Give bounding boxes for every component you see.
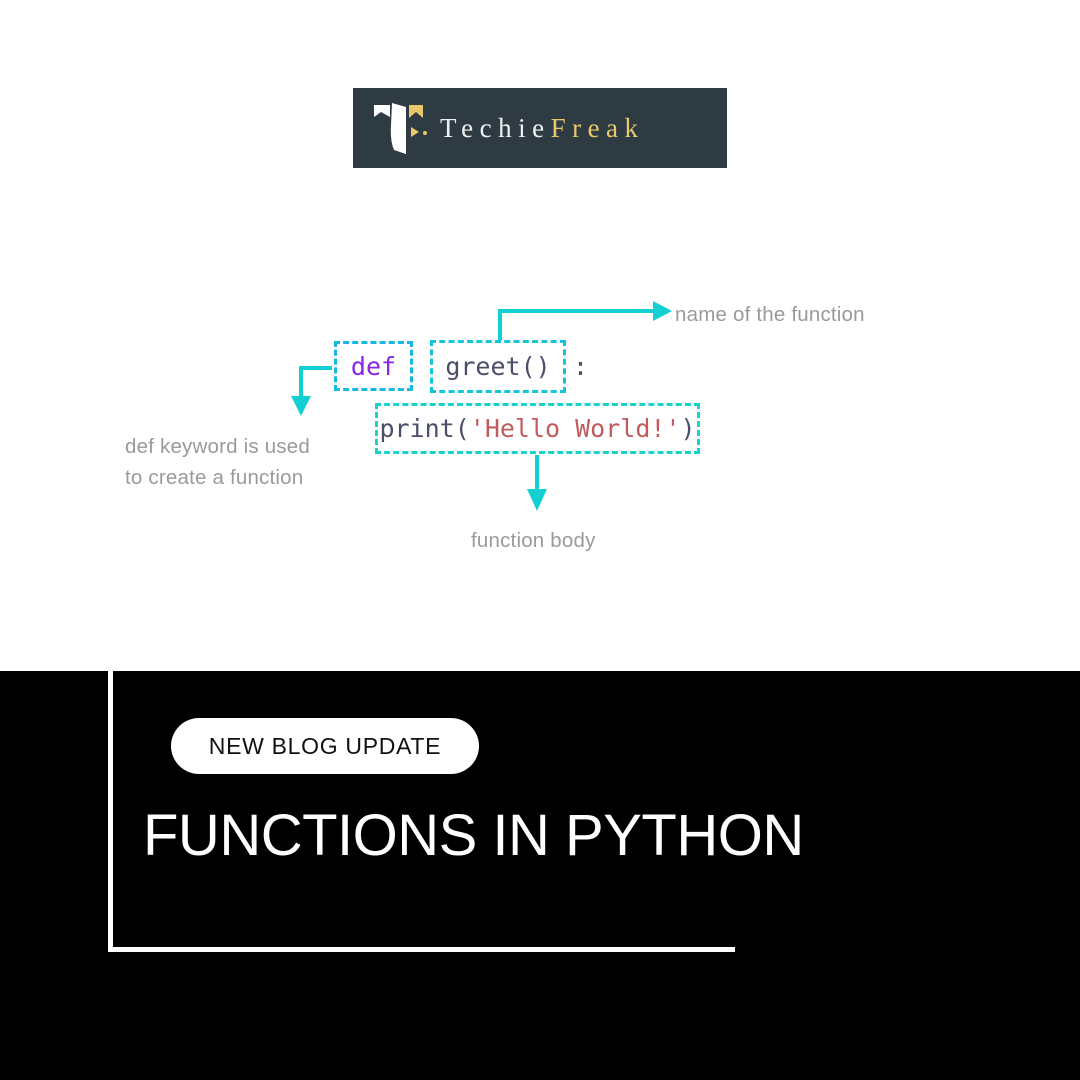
page-title: FUNCTIONS IN PYTHON xyxy=(143,802,804,869)
hero-white-panel: Techie Freak def greet() : print('Hello … xyxy=(0,0,1080,671)
footer-corner-frame: NEW BLOG UPDATE FUNCTIONS IN PYTHON xyxy=(108,671,735,952)
status-badge-label: NEW BLOG UPDATE xyxy=(209,733,441,760)
code-string-literal: 'Hello World!' xyxy=(470,414,681,443)
code-keyword-def: def xyxy=(351,352,396,381)
code-function-name: greet() xyxy=(445,352,550,381)
annotation-def-keyword-line-2: to create a function xyxy=(125,462,355,493)
code-token-box-def-keyword: def xyxy=(334,341,413,391)
code-colon: : xyxy=(573,352,588,381)
annotation-def-keyword: def keyword is used to create a function xyxy=(125,431,355,493)
annotation-name-of-function: name of the function xyxy=(675,299,865,330)
code-token-box-function-body: print('Hello World!') xyxy=(375,403,700,454)
annotation-def-keyword-line-1: def keyword is used xyxy=(125,431,355,462)
code-token-box-function-name: greet() xyxy=(430,340,566,393)
code-print-call-suffix: ) xyxy=(680,414,695,443)
diagram-arrows xyxy=(0,0,1080,671)
status-badge[interactable]: NEW BLOG UPDATE xyxy=(171,718,479,774)
code-print-call-prefix: print( xyxy=(379,414,469,443)
annotation-function-body: function body xyxy=(471,525,596,556)
footer-black-panel: NEW BLOG UPDATE FUNCTIONS IN PYTHON xyxy=(0,671,1080,1080)
code-body-line: print('Hello World!') xyxy=(379,414,695,443)
